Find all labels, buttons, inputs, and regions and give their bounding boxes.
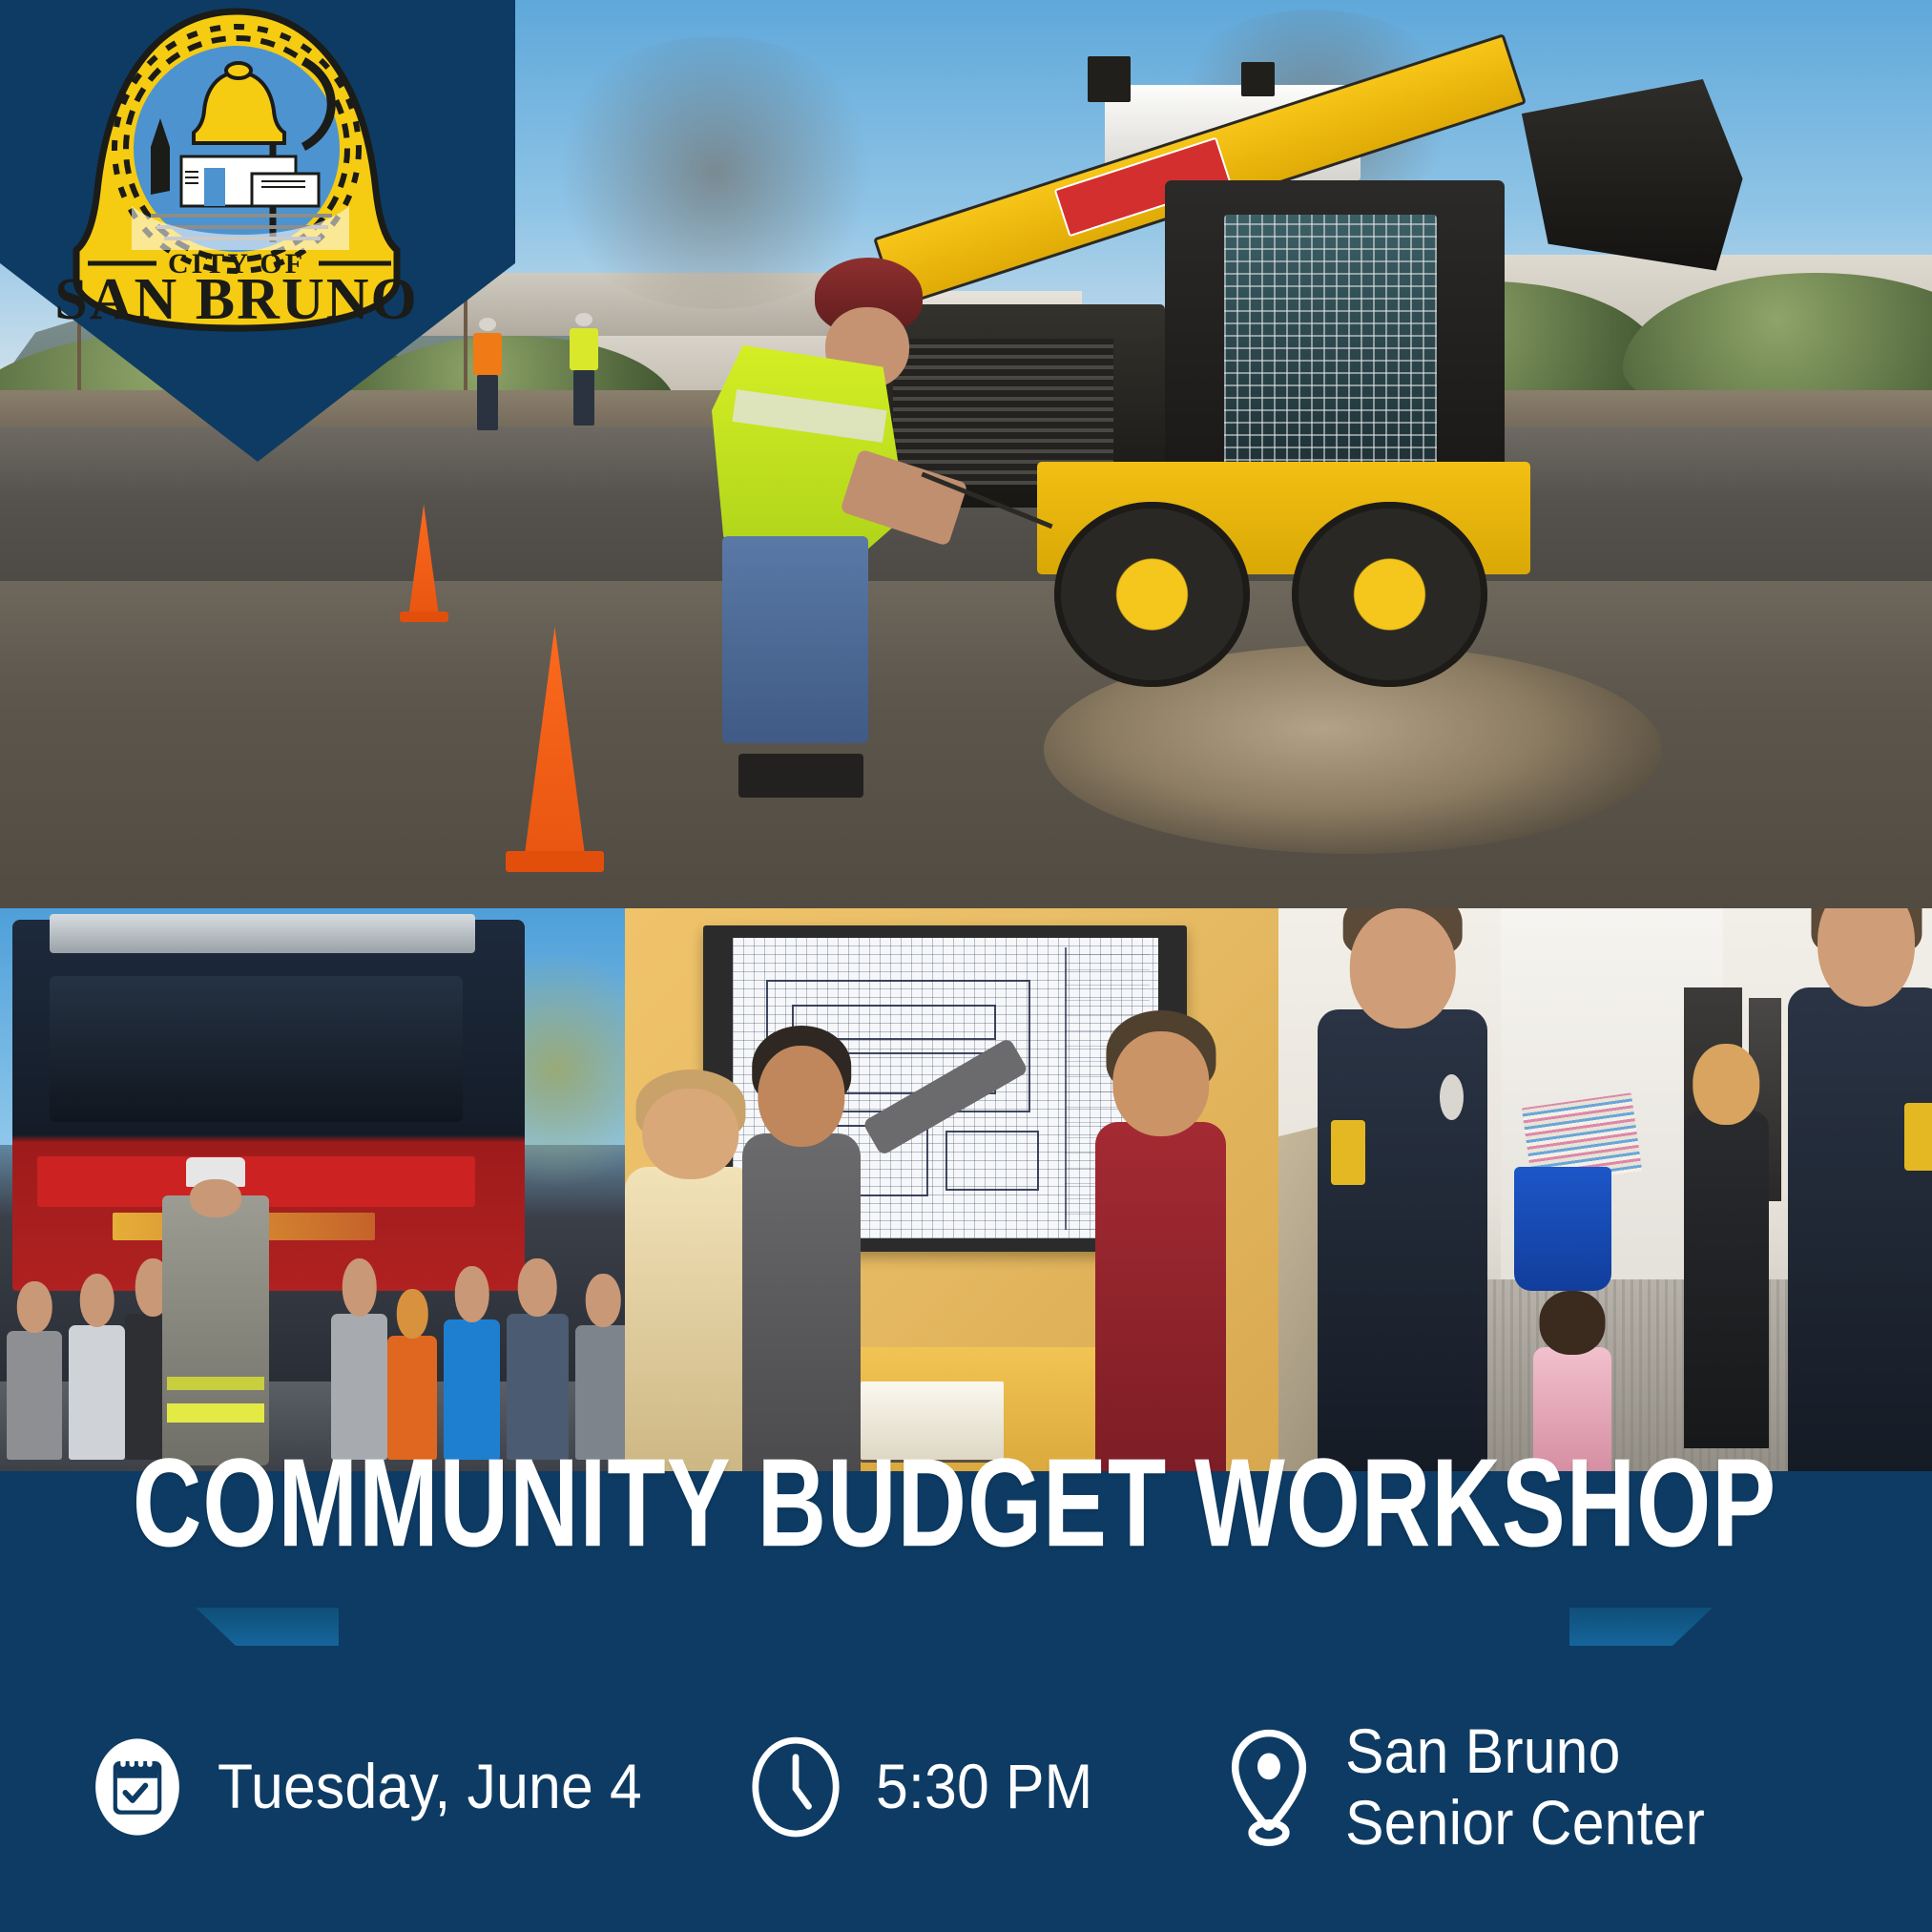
shoulder-patch-icon: [1331, 1120, 1365, 1185]
location-text: San Bruno Senior Center: [1345, 1715, 1705, 1858]
detail-time: 5:30 PM: [744, 1735, 1221, 1839]
police-officer-female: [1788, 987, 1932, 1471]
photo-police-department: [1278, 908, 1932, 1471]
exhaust-stack: [1241, 62, 1276, 95]
child: [7, 1331, 63, 1461]
loader-wheel: [1292, 502, 1487, 688]
title-banner: COMMUNITY BUDGET WORKSHOP: [196, 1396, 1713, 1608]
flyer-canvas: COMMUNITY BUDGET WORKSHOP Tuesday, June …: [0, 0, 1932, 1932]
detail-date: Tuesday, June 4: [86, 1735, 744, 1839]
worker-jeans: [722, 536, 868, 743]
cab-window-mesh: [1224, 215, 1437, 474]
exhaust-stack: [1088, 56, 1131, 101]
map-pin-icon: [1221, 1728, 1317, 1846]
photo-city-planning: [625, 908, 1278, 1471]
time-text: 5:30 PM: [876, 1751, 1092, 1822]
clock-icon: [744, 1735, 847, 1839]
traffic-cone: [396, 504, 451, 618]
date-text: Tuesday, June 4: [218, 1751, 642, 1822]
photo-fire-department: [0, 908, 625, 1471]
event-details-bar: Tuesday, June 4 5:30 PM San Bruno Senior…: [0, 1641, 1932, 1932]
gift-tote-bag: [1514, 1167, 1612, 1291]
child: [69, 1325, 125, 1461]
traffic-cone: [498, 627, 611, 865]
shoulder-patch-icon: [1904, 1103, 1932, 1171]
badge-icon: [1440, 1074, 1464, 1120]
engine-windshield: [50, 976, 462, 1122]
background-worker: [570, 313, 598, 426]
worker-boot: [738, 754, 862, 798]
loader-bucket: [1522, 79, 1743, 271]
skid-steer-loader: [850, 46, 1700, 609]
detail-location: San Bruno Senior Center: [1221, 1715, 1846, 1858]
city-seal-bell-icon: CITY OF SAN BRUNO: [17, 4, 456, 338]
seal-san-bruno-text: SAN BRUNO: [54, 267, 418, 332]
photo-row: [0, 908, 1932, 1471]
page-title: COMMUNITY BUDGET WORKSHOP: [132, 1429, 1776, 1575]
background-worker: [473, 318, 502, 430]
foreground-worker: [696, 237, 966, 781]
emergency-lightbar: [50, 914, 474, 953]
loader-wheel: [1054, 502, 1250, 688]
calendar-check-icon: [86, 1735, 189, 1839]
